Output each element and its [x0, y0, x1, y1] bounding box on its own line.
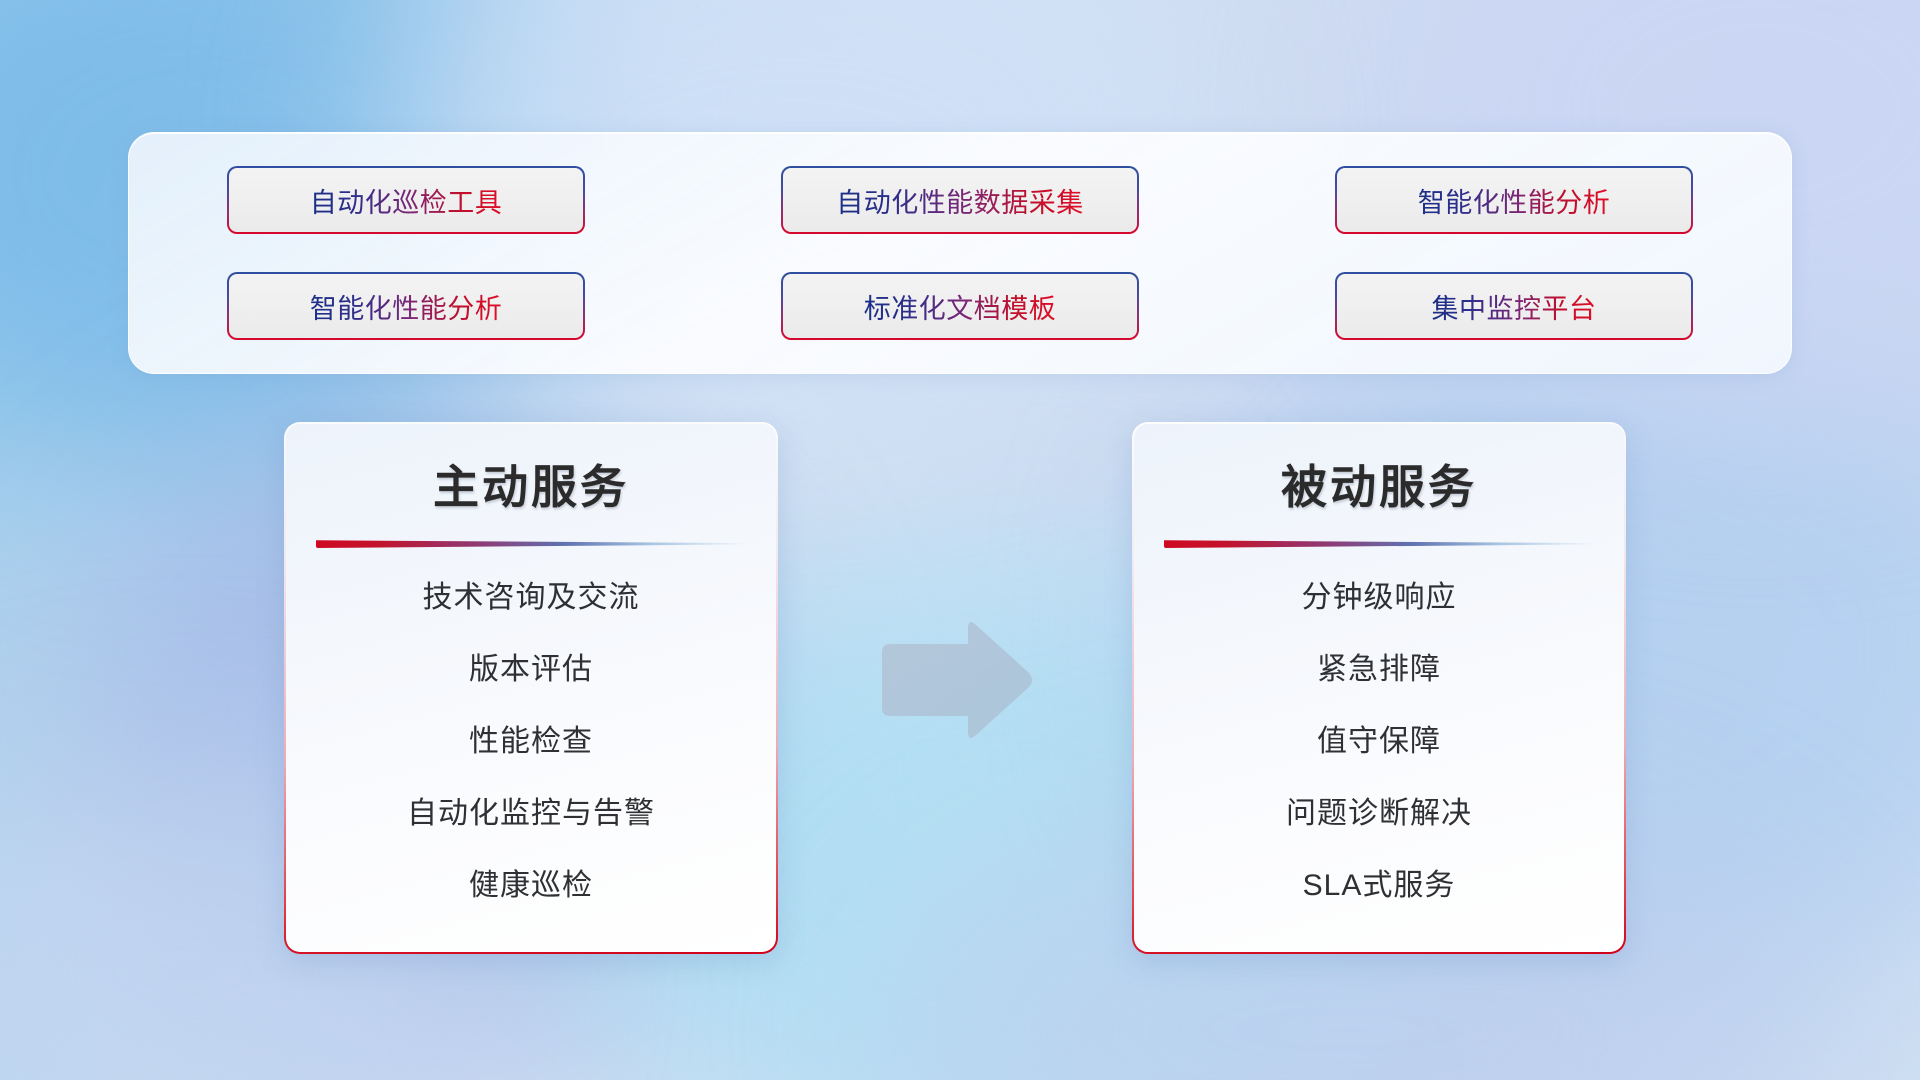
chip-body[interactable]: 集中监控平台 — [1337, 274, 1691, 338]
list-item: 分钟级响应 — [1302, 562, 1457, 634]
service-item-list: 分钟级响应 紧急排障 值守保障 问题诊断解决 SLA式服务 — [1168, 562, 1590, 922]
list-item: 问题诊断解决 — [1286, 778, 1472, 850]
chip-body[interactable]: 智能化性能分析 — [1337, 168, 1691, 232]
slide-canvas: 自动化巡检工具 自动化性能数据采集 智能化性能分析 智能化性能分析 标准化文档模… — [0, 0, 1920, 1080]
chip-centralized-monitoring-platform[interactable]: 集中监控平台 — [1335, 272, 1693, 340]
title-divider — [316, 539, 746, 548]
list-item: 紧急排障 — [1317, 634, 1441, 706]
chip-label: 集中监控平台 — [1432, 287, 1597, 326]
chip-automated-inspection-tool[interactable]: 自动化巡检工具 — [227, 166, 585, 234]
chip-label: 智能化性能分析 — [310, 287, 503, 326]
chip-automated-performance-data-collection[interactable]: 自动化性能数据采集 — [781, 166, 1139, 234]
chip-body[interactable]: 智能化性能分析 — [229, 274, 583, 338]
list-item: 自动化监控与告警 — [407, 778, 655, 850]
list-item: 技术咨询及交流 — [423, 562, 640, 634]
list-item: 版本评估 — [469, 634, 593, 706]
chip-label: 智能化性能分析 — [1418, 181, 1611, 220]
list-item: SLA式服务 — [1303, 850, 1456, 922]
chip-body[interactable]: 自动化性能数据采集 — [783, 168, 1137, 232]
chip-label: 自动化巡检工具 — [310, 181, 503, 220]
title-divider — [1164, 539, 1594, 548]
card-title: 被动服务 — [1281, 462, 1477, 513]
chip-body[interactable]: 标准化文档模板 — [783, 274, 1137, 338]
chip-intelligent-performance-analysis-bottom[interactable]: 智能化性能分析 — [227, 272, 585, 340]
list-item: 性能检查 — [469, 706, 593, 778]
right-arrow-icon — [876, 620, 1036, 740]
service-item-list: 技术咨询及交流 版本评估 性能检查 自动化监控与告警 健康巡检 — [320, 562, 742, 922]
chip-intelligent-performance-analysis-top[interactable]: 智能化性能分析 — [1335, 166, 1693, 234]
chip-body[interactable]: 自动化巡检工具 — [229, 168, 583, 232]
card-title: 主动服务 — [433, 462, 629, 513]
list-item: 值守保障 — [1317, 706, 1441, 778]
card-body: 主动服务 技术咨询及交流 版本评估 性能检查 自动化监控与告警 健康巡检 — [286, 424, 776, 952]
card-passive-service: 被动服务 分钟级响应 紧急排障 值守保障 问题诊断解决 SLA式服务 — [1132, 422, 1626, 954]
list-item: 健康巡检 — [469, 850, 593, 922]
chip-label: 自动化性能数据采集 — [836, 181, 1084, 220]
card-active-service: 主动服务 技术咨询及交流 版本评估 性能检查 自动化监控与告警 健康巡检 — [284, 422, 778, 954]
chip-standardized-document-template[interactable]: 标准化文档模板 — [781, 272, 1139, 340]
capability-chips-panel: 自动化巡检工具 自动化性能数据采集 智能化性能分析 智能化性能分析 标准化文档模… — [128, 132, 1792, 374]
chip-label: 标准化文档模板 — [864, 287, 1057, 326]
card-body: 被动服务 分钟级响应 紧急排障 值守保障 问题诊断解决 SLA式服务 — [1134, 424, 1624, 952]
